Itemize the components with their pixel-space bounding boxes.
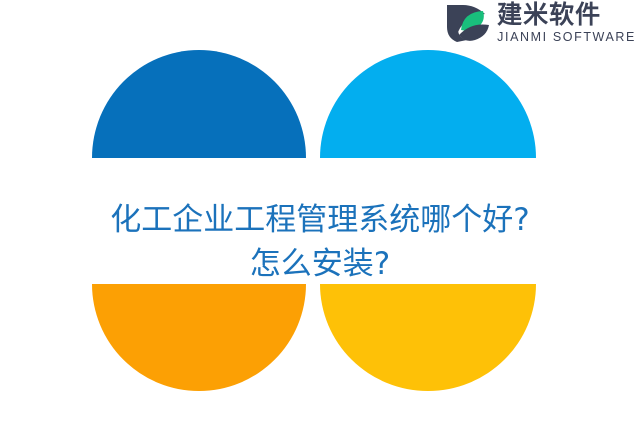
page-title: 化工企业工程管理系统哪个好? 怎么安装? [0,198,640,286]
decor-shape-bottom-right [320,284,536,391]
headline-line-2: 怎么安装? [0,242,640,286]
decor-shape-top-left [92,50,306,158]
brand-name-cn: 建米软件 [497,3,636,28]
brand-logo[interactable]: 建米软件 JIANMI SOFTWARE [445,2,636,44]
brand-name-en: JIANMI SOFTWARE [497,31,636,44]
poster-canvas: 化工企业工程管理系统哪个好? 怎么安装? 建米软件 JIANMI SOFTWAR… [0,0,640,427]
decor-shape-bottom-left [92,284,306,391]
jianmi-leaf-logo-icon [445,2,491,44]
brand-wordmark: 建米软件 JIANMI SOFTWARE [497,3,636,44]
decor-shape-top-right [320,50,536,158]
headline-line-1: 化工企业工程管理系统哪个好? [0,198,640,242]
